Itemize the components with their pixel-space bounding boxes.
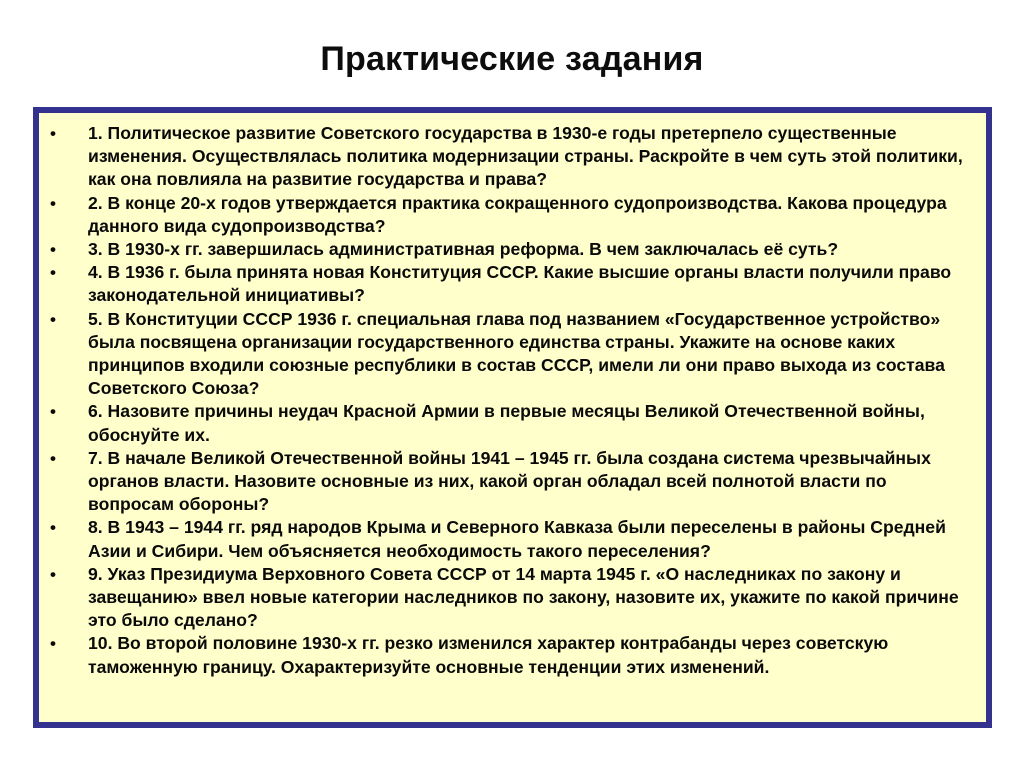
list-item: •10. Во второй половине 1930-х гг. резко… (39, 632, 978, 678)
bullet-icon: • (47, 261, 59, 284)
task-text: 1. Политическое развитие Советского госу… (88, 122, 968, 192)
list-item: •6. Назовите причины неудач Красной Арми… (39, 400, 978, 446)
page-title: Практические задания (0, 38, 1024, 80)
list-item: •2. В конце 20-х годов утверждается прак… (39, 192, 978, 238)
bullet-icon: • (47, 400, 59, 423)
list-item: •7. В начале Великой Отечественной войны… (39, 447, 978, 517)
task-text: 8. В 1943 – 1944 гг. ряд народов Крыма и… (88, 516, 968, 562)
task-list: •1. Политическое развитие Советского гос… (39, 122, 978, 679)
task-text: 4. В 1936 г. была принята новая Конститу… (88, 261, 968, 307)
task-text: 2. В конце 20-х годов утверждается практ… (88, 192, 968, 238)
task-text: 7. В начале Великой Отечественной войны … (88, 447, 968, 517)
list-item: •4. В 1936 г. была принята новая Констит… (39, 261, 978, 307)
presentation-slide: Практические задания •1. Политическое ра… (0, 0, 1024, 767)
bullet-icon: • (47, 563, 59, 586)
list-item: •9. Указ Президиума Верховного Совета СС… (39, 563, 978, 633)
task-text: 6. Назовите причины неудач Красной Армии… (88, 400, 968, 446)
bullet-icon: • (47, 447, 59, 470)
bullet-icon: • (47, 308, 59, 331)
task-content-panel: •1. Политическое развитие Советского гос… (33, 107, 992, 728)
task-text: 10. Во второй половине 1930-х гг. резко … (88, 632, 968, 678)
bullet-icon: • (47, 516, 59, 539)
list-item: •3. В 1930-х гг. завершилась администрат… (39, 238, 978, 261)
task-text: 9. Указ Президиума Верховного Совета ССС… (88, 563, 968, 633)
list-item: •8. В 1943 – 1944 гг. ряд народов Крыма … (39, 516, 978, 562)
bullet-icon: • (47, 632, 59, 655)
task-text: 3. В 1930-х гг. завершилась администрати… (88, 238, 968, 261)
bullet-icon: • (47, 192, 59, 215)
task-text: 5. В Конституции СССР 1936 г. специальна… (88, 308, 968, 401)
bullet-icon: • (47, 122, 59, 145)
list-item: •5. В Конституции СССР 1936 г. специальн… (39, 308, 978, 401)
list-item: •1. Политическое развитие Советского гос… (39, 122, 978, 192)
bullet-icon: • (47, 238, 59, 261)
